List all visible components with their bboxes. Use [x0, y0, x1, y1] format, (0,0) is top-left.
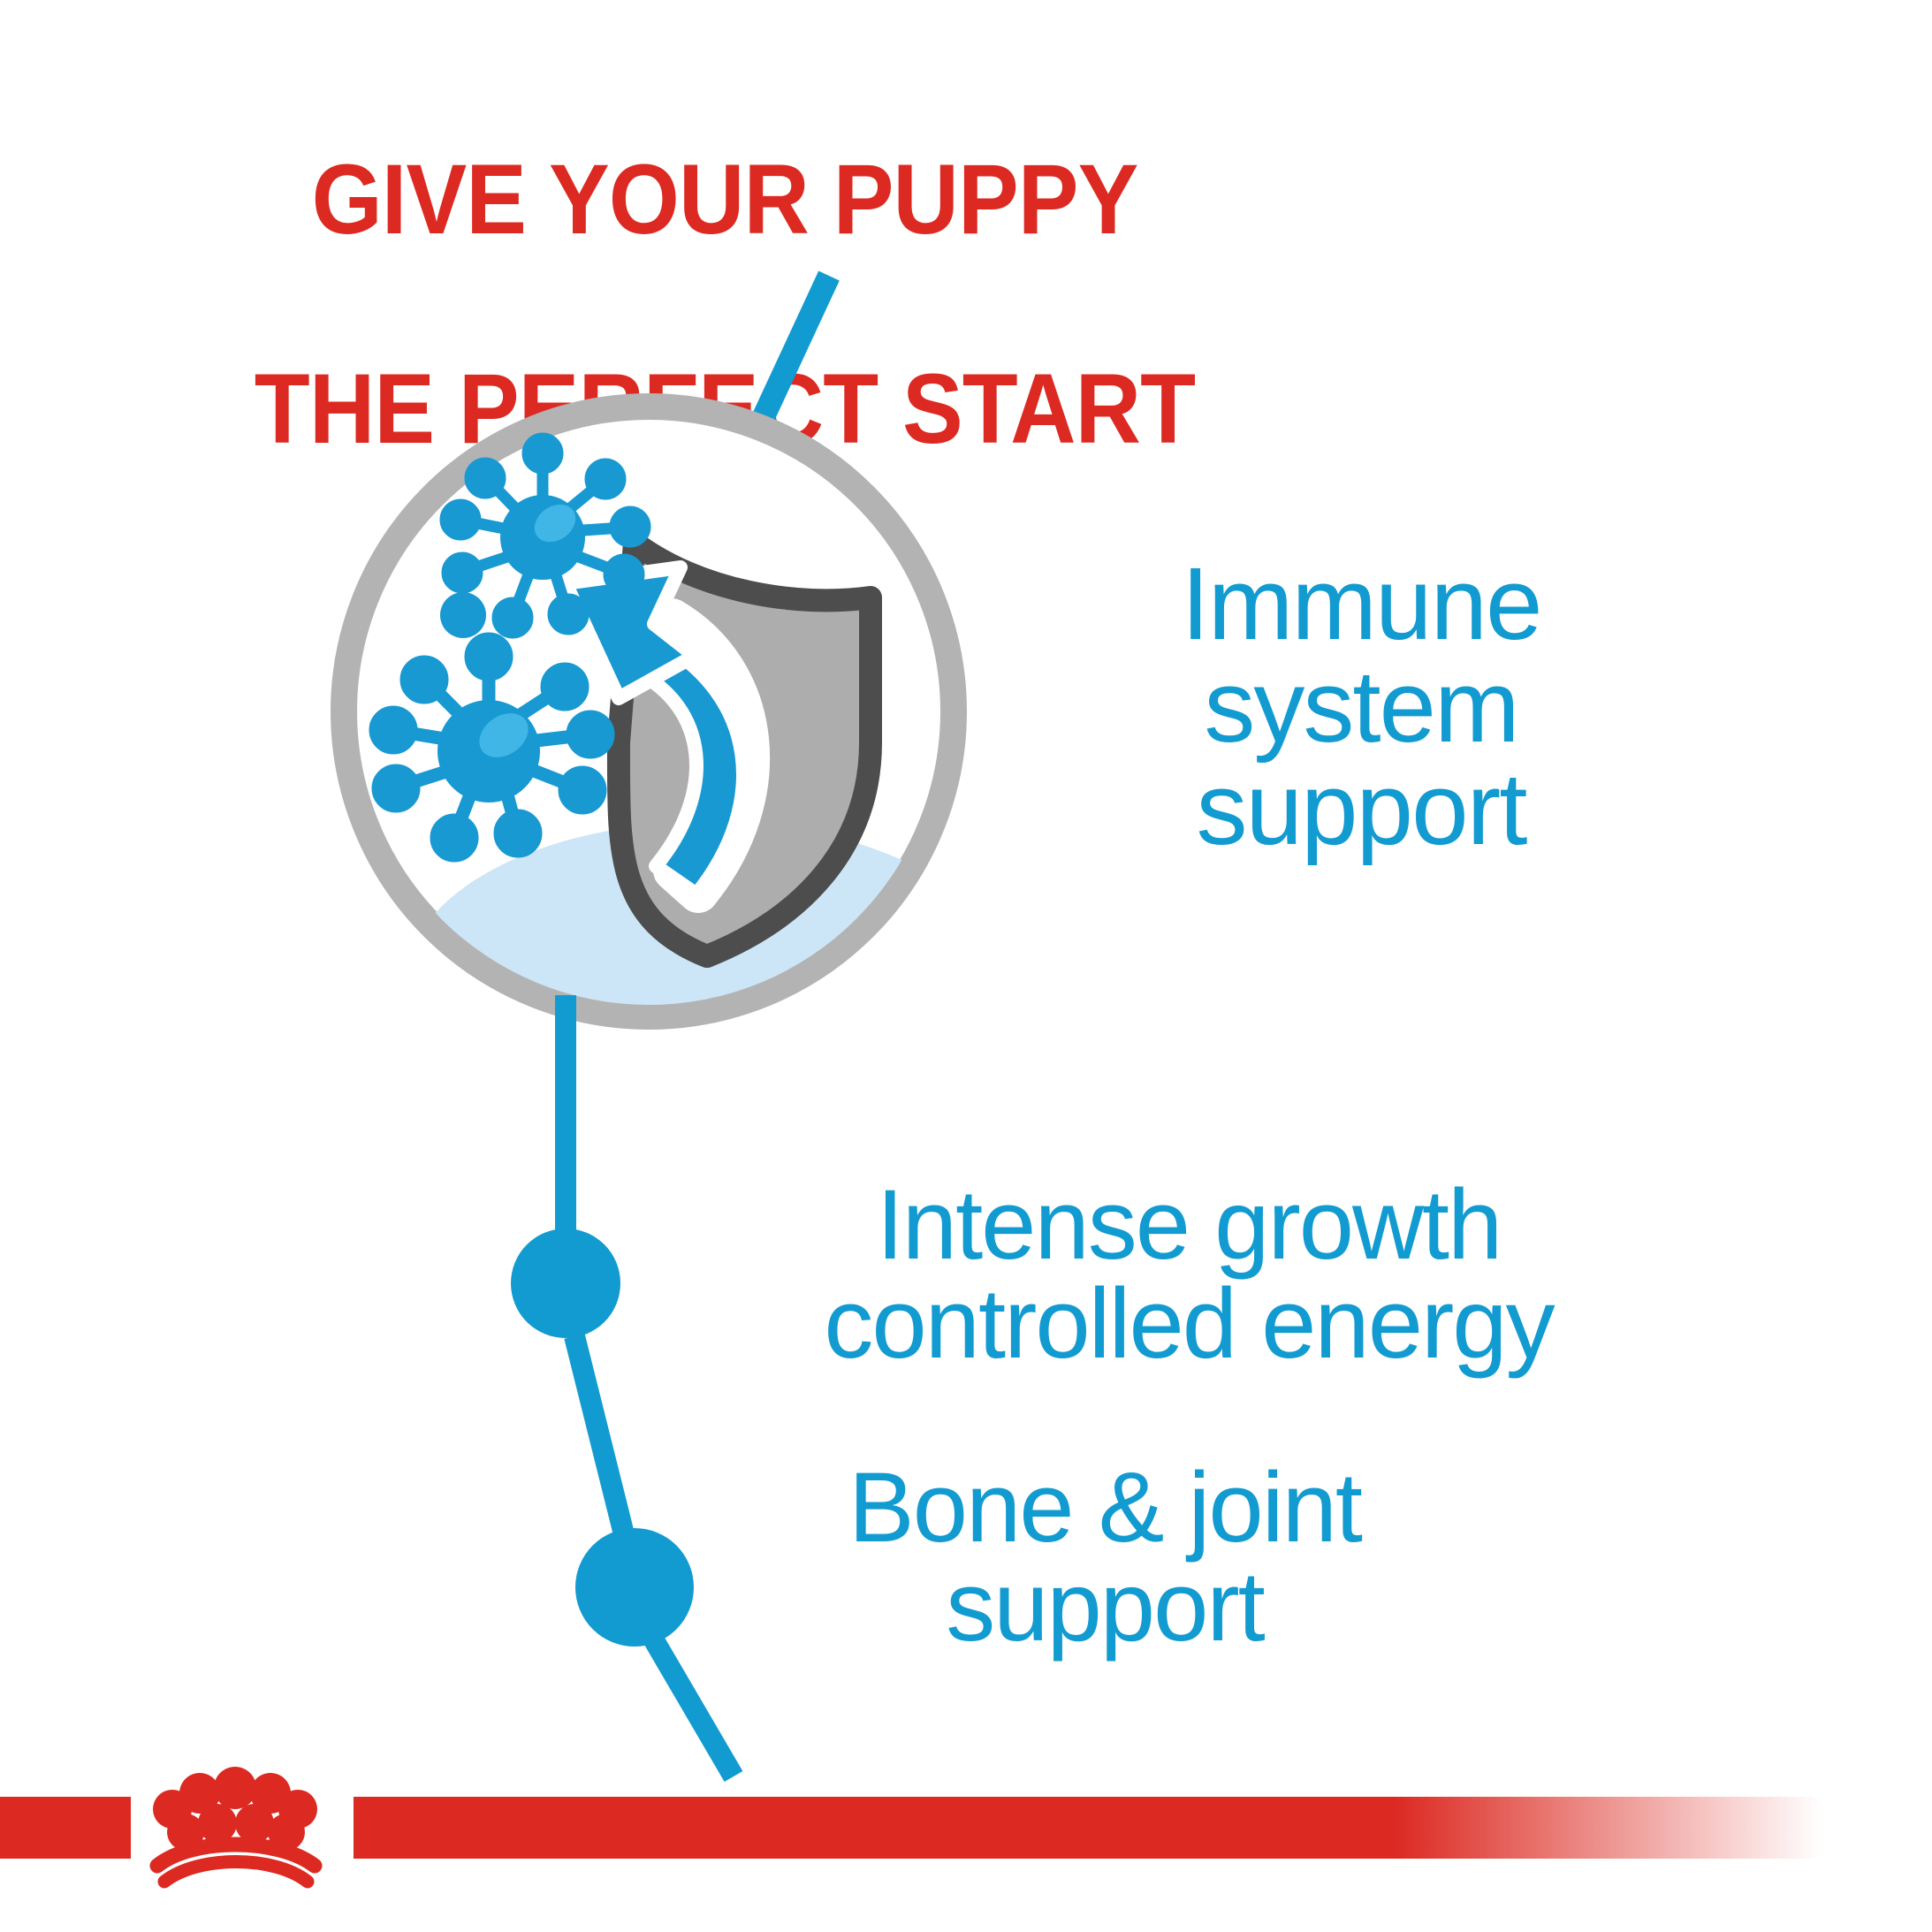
dot-icon — [440, 592, 486, 638]
footer-band — [0, 1797, 1932, 1859]
benefit-label-growth: Intense growth controlled energy — [654, 1175, 1723, 1373]
connector-line-2 — [574, 1336, 629, 1555]
footer-bar-right — [354, 1797, 1932, 1859]
connector-line-top — [760, 276, 829, 424]
footer-bar-left — [0, 1797, 131, 1859]
royal-canin-crown-icon — [131, 1763, 354, 1894]
poster-canvas: GIVE YOUR PUPPY THE PERFECT START — [0, 0, 1932, 1932]
connector-line-3 — [654, 1640, 734, 1776]
benefit-label-immune: Immune system support — [1043, 552, 1679, 860]
node-dot-growth — [511, 1228, 620, 1338]
node-dot-bone — [575, 1528, 694, 1647]
benefit-label-bone: Bone & joint support — [698, 1458, 1511, 1656]
